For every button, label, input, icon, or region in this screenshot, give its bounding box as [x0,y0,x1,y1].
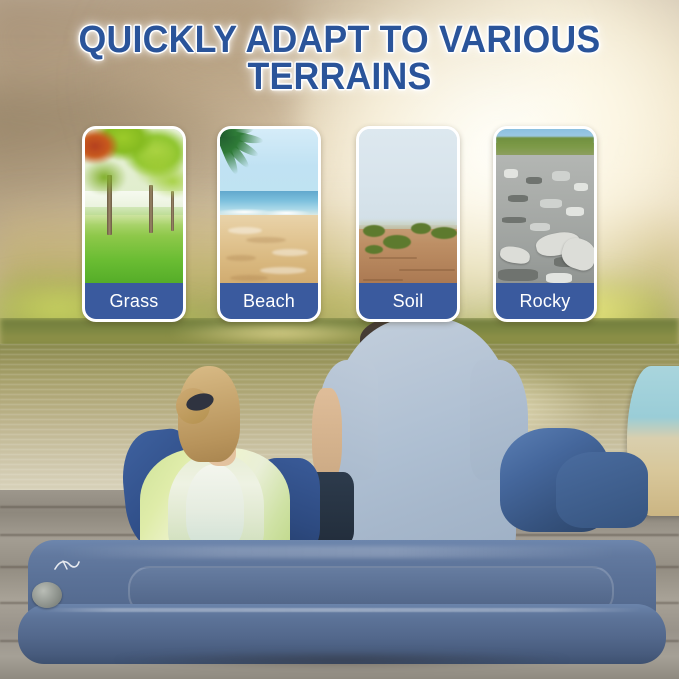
mattress-seam [42,608,642,612]
beach-photo [220,129,318,289]
grass-photo [85,129,183,289]
grass-lawn [85,215,183,289]
terrain-card-soil[interactable]: Soil [356,126,460,322]
headline-line-1: QUICKLY ADAPT TO VARIOUS [79,19,601,61]
terrain-card-rocky[interactable]: Rocky [493,126,597,322]
terrain-label-rocky: Rocky [496,283,594,319]
mattress-valve [32,582,62,608]
terrain-card-beach[interactable]: Beach [217,126,321,322]
headline: QUICKLY ADAPT TO VARIOUS TERRAINS [20,22,658,96]
mattress-highlight [58,546,618,558]
beach-palm [220,129,280,191]
soil-sky [359,129,457,225]
terrain-label-grass: Grass [85,283,183,319]
mattress-shadow [18,652,666,672]
terrain-card-grass[interactable]: Grass [82,126,186,322]
rocky-photo [496,129,594,289]
woman-hood-inner [186,464,244,550]
terrain-label-soil: Soil [359,283,457,319]
sleeping-bag-right-far [556,452,648,528]
soil-photo [359,129,457,289]
product-marketing-image: QUICKLY ADAPT TO VARIOUS TERRAINS Grass [0,0,679,679]
man-arm [312,388,342,484]
air-mattress [18,540,666,670]
headline-line-2: TERRAINS [20,59,658,96]
terrain-card-row: Grass [0,126,679,322]
grass-canopy-right [123,133,183,213]
brand-logo-icon [54,558,80,571]
terrain-label-beach: Beach [220,283,318,319]
